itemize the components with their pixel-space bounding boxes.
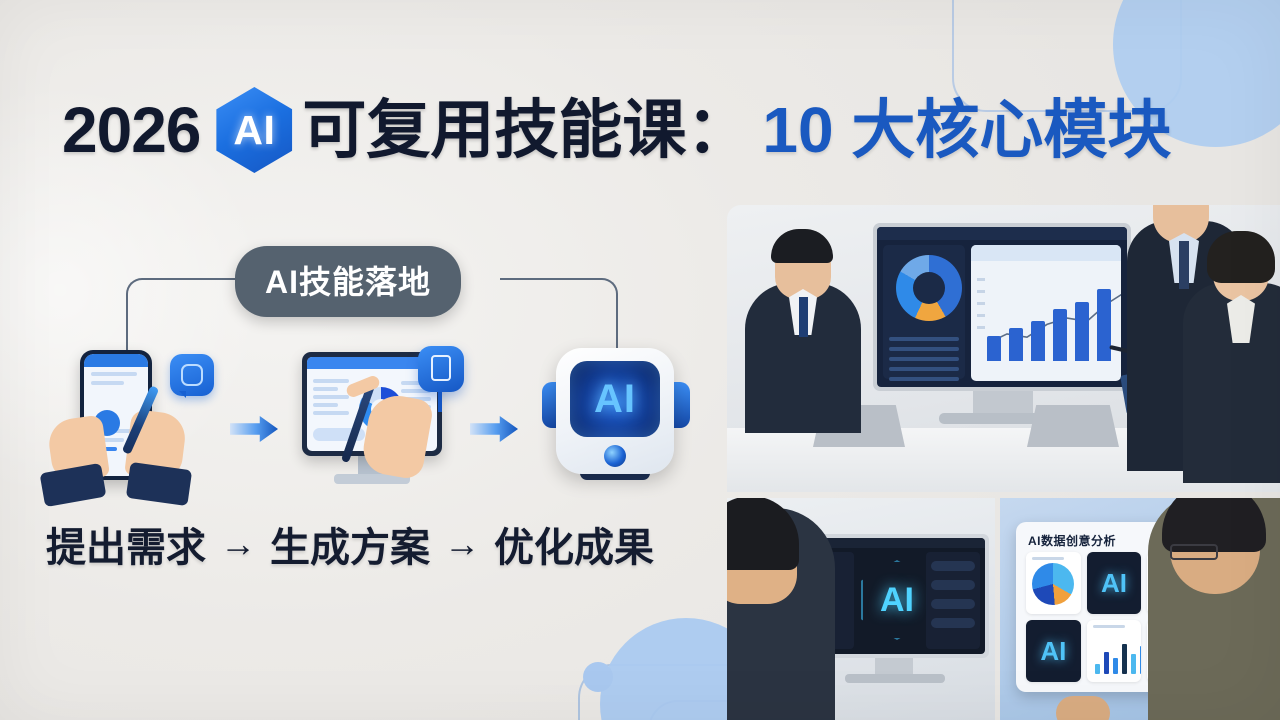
sidebar-line [313, 379, 349, 383]
phone-text-line [91, 372, 137, 376]
robot-face-screen: AI [570, 361, 660, 437]
phone-statusbar [84, 354, 148, 367]
donut-chart-icon [896, 255, 962, 321]
tie [1179, 241, 1189, 289]
bar [1104, 652, 1109, 674]
bar [1053, 309, 1067, 361]
sidebar-line [313, 395, 349, 399]
poster-canvas: 2026 AI 可复用技能课： 10 大核心模块 AI技能落地 [0, 0, 1280, 720]
bar [1097, 289, 1111, 361]
hand-icon [1056, 696, 1110, 720]
sidebar-line [313, 403, 338, 407]
monitor-sidebar [313, 375, 349, 419]
ai-hologram-label: AI [880, 581, 914, 620]
flow-arrow-1 [230, 338, 280, 514]
ai-hologram-cube-icon: AI [861, 560, 933, 640]
bar [987, 336, 1001, 361]
dashboard-list [889, 331, 959, 387]
photo-analyst-ai-hologram: AI [727, 498, 995, 720]
dashboard-right-panel [926, 552, 980, 649]
sidebar-line [313, 387, 338, 391]
hair [1207, 231, 1275, 283]
person-seated-left [745, 283, 861, 433]
pie-chart-icon [1032, 563, 1074, 605]
dashboard-chart-panel [971, 245, 1121, 381]
blue-dot-decor [583, 662, 613, 692]
flow-illustration-strip: AI [40, 338, 710, 514]
arrow-right-icon [470, 416, 518, 442]
chart-axis-ticks [977, 269, 985, 338]
caption-arrow-icon: → [220, 523, 256, 565]
bar [1009, 328, 1023, 361]
title-blue-text: 10 大核心模块 [762, 98, 1171, 162]
ai-tile-label: AI [1101, 568, 1127, 599]
badge-stem [438, 390, 442, 412]
bar [1075, 302, 1089, 361]
robot-lens-icon [604, 445, 626, 467]
title-dark-text: 可复用技能课： [302, 98, 750, 162]
phone-text-line [91, 381, 124, 385]
card-caption-line [1093, 625, 1125, 628]
sidebar-line [313, 411, 349, 415]
chat-glyph-icon [181, 364, 203, 386]
photo-office-meeting-dashboard [727, 205, 1280, 492]
dashboard-topbar [877, 227, 1127, 240]
hair [727, 498, 799, 570]
flow-step-label-3: 优化成果 [494, 515, 654, 573]
dashboard-sidebar [883, 245, 965, 379]
dashboard-screen [877, 227, 1127, 387]
flow-caption-row: 提出需求 → 生成方案 → 优化成果 [46, 515, 706, 573]
step-illustration-phone [40, 338, 230, 514]
card-caption-line [1032, 557, 1064, 560]
step-illustration-monitor [280, 338, 470, 514]
board-title: AI数据创意分析 [1028, 532, 1116, 549]
pie-chart-card [1026, 552, 1081, 614]
chat-bubble-icon [170, 354, 214, 396]
ai-tile-small: AI [1026, 620, 1081, 682]
bar [1031, 321, 1045, 361]
laptop-right [1027, 405, 1119, 447]
title-year: 2026 [62, 98, 200, 162]
ai-tile-large: AI [1087, 552, 1142, 614]
page-title: 2026 AI 可复用技能课： 10 大核心模块 [62, 92, 1171, 168]
shirt [1227, 295, 1255, 343]
panel-header [971, 245, 1121, 261]
arrow-right-icon [230, 416, 278, 442]
step-illustration-robot: AI [520, 338, 710, 514]
ai-hexagon-badge-icon: AI [216, 87, 292, 173]
flow-pill-label: AI技能落地 [235, 246, 461, 317]
flow-step-label-1: 提出需求 [46, 515, 206, 573]
robot-ear-right [672, 382, 690, 428]
bar [1113, 658, 1118, 674]
bar [1122, 644, 1127, 674]
person-viewer [1148, 498, 1280, 720]
photo-collage: AI AI数据创意分析 [727, 205, 1280, 720]
monitor-base [845, 674, 945, 683]
bar-chart-icon [1095, 642, 1142, 674]
glasses-icon [1170, 544, 1218, 560]
flow-step-label-2: 生成方案 [270, 515, 430, 573]
bar [1140, 646, 1142, 674]
ai-badge-label: AI [233, 107, 275, 154]
photo-presentation-ai-board: AI数据创意分析 AI [1000, 498, 1280, 720]
person-seated-right [1183, 283, 1280, 483]
bar [1131, 654, 1136, 674]
sleeve-cuff-left [40, 463, 107, 507]
monitor-stand [973, 391, 1033, 415]
tie [799, 297, 808, 337]
caption-arrow-icon: → [444, 523, 480, 565]
bar [1095, 664, 1100, 674]
flow-arrow-2 [470, 338, 520, 514]
person-back-view [727, 508, 835, 720]
robot-ai-label: AI [594, 377, 636, 422]
tablet-icon [418, 346, 464, 392]
bar-chart-card [1087, 620, 1142, 682]
sleeve-cuff-right [126, 462, 192, 506]
ai-robot-icon: AI [556, 348, 674, 474]
bar-chart [987, 283, 1111, 361]
meeting-monitor [873, 223, 1131, 391]
ai-tile-label: AI [1040, 636, 1066, 667]
